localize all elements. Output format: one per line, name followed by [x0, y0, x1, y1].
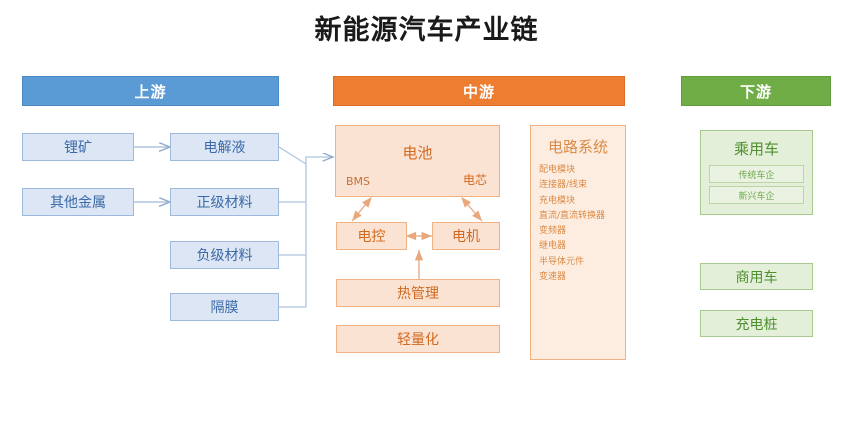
node-electrolyte[interactable]: 电解液: [170, 133, 279, 161]
node-label: 其他金属: [50, 192, 106, 212]
edge-battery-motorcontroller: [352, 198, 371, 221]
circuit-system-title: 电路系统: [531, 136, 625, 157]
section-header-midstream: 中游: [333, 76, 625, 106]
circuit-item: 充电模块: [531, 194, 625, 209]
diagram-canvas: 新能源汽车产业链: [0, 0, 853, 444]
circuit-item: 继电器: [531, 239, 625, 254]
node-label: 充电桩: [736, 314, 778, 334]
node-label: 锂矿: [64, 137, 92, 157]
node-separator[interactable]: 隔膜: [170, 293, 279, 321]
page-title: 新能源汽车产业链: [0, 8, 853, 47]
circuit-item: 半导体元件: [531, 255, 625, 270]
circuit-item: 变频器: [531, 224, 625, 239]
node-label: 正级材料: [197, 192, 253, 212]
node-charging-pile[interactable]: 充电桩: [700, 310, 813, 337]
passenger-car-title: 乘用车: [701, 138, 812, 159]
passenger-car-subitem-traditional[interactable]: 传统车企: [709, 165, 804, 183]
edge-bus-to-battery: [306, 157, 333, 164]
circuit-item: 直流/直流转换器: [531, 209, 625, 224]
node-motor-controller[interactable]: 电控: [336, 222, 407, 250]
passenger-car-subitem-emerging[interactable]: 新兴车企: [709, 186, 804, 204]
node-battery[interactable]: 电池 BMS 电芯: [335, 125, 500, 197]
node-thermal-management[interactable]: 热管理: [336, 279, 500, 307]
node-other-metals[interactable]: 其他金属: [22, 188, 134, 216]
battery-bms-label: BMS: [346, 175, 370, 188]
circuit-item: 变速器: [531, 270, 625, 285]
battery-title: 电池: [336, 142, 499, 163]
node-cathode-material[interactable]: 正级材料: [170, 188, 279, 216]
node-circuit-system[interactable]: 电路系统 配电模块 连接器/线束 充电模块 直流/直流转换器 变频器 继电器 半…: [530, 125, 626, 360]
node-label: 电控: [358, 226, 386, 246]
connector-layer: [0, 0, 853, 444]
node-label: 商用车: [736, 267, 778, 287]
node-commercial-vehicle[interactable]: 商用车: [700, 263, 813, 290]
battery-cell-label: 电芯: [463, 171, 487, 188]
circuit-item: 配电模块: [531, 163, 625, 178]
node-lithium-mine[interactable]: 锂矿: [22, 133, 134, 161]
node-label: 电机: [452, 226, 480, 246]
node-motor[interactable]: 电机: [432, 222, 500, 250]
node-passenger-car[interactable]: 乘用车 传统车企 新兴车企: [700, 130, 813, 215]
node-label: 电解液: [204, 137, 246, 157]
circuit-item: 连接器/线束: [531, 178, 625, 193]
node-label: 隔膜: [211, 297, 239, 317]
node-anode-material[interactable]: 负级材料: [170, 241, 279, 269]
node-label: 热管理: [397, 283, 439, 303]
section-header-downstream: 下游: [681, 76, 831, 106]
edge-electrolyte-to-bus: [279, 147, 306, 164]
node-lightweighting[interactable]: 轻量化: [336, 325, 500, 353]
edge-battery-motor: [462, 198, 482, 221]
node-label: 负级材料: [197, 245, 253, 265]
section-header-upstream: 上游: [22, 76, 279, 106]
node-label: 轻量化: [397, 329, 439, 349]
